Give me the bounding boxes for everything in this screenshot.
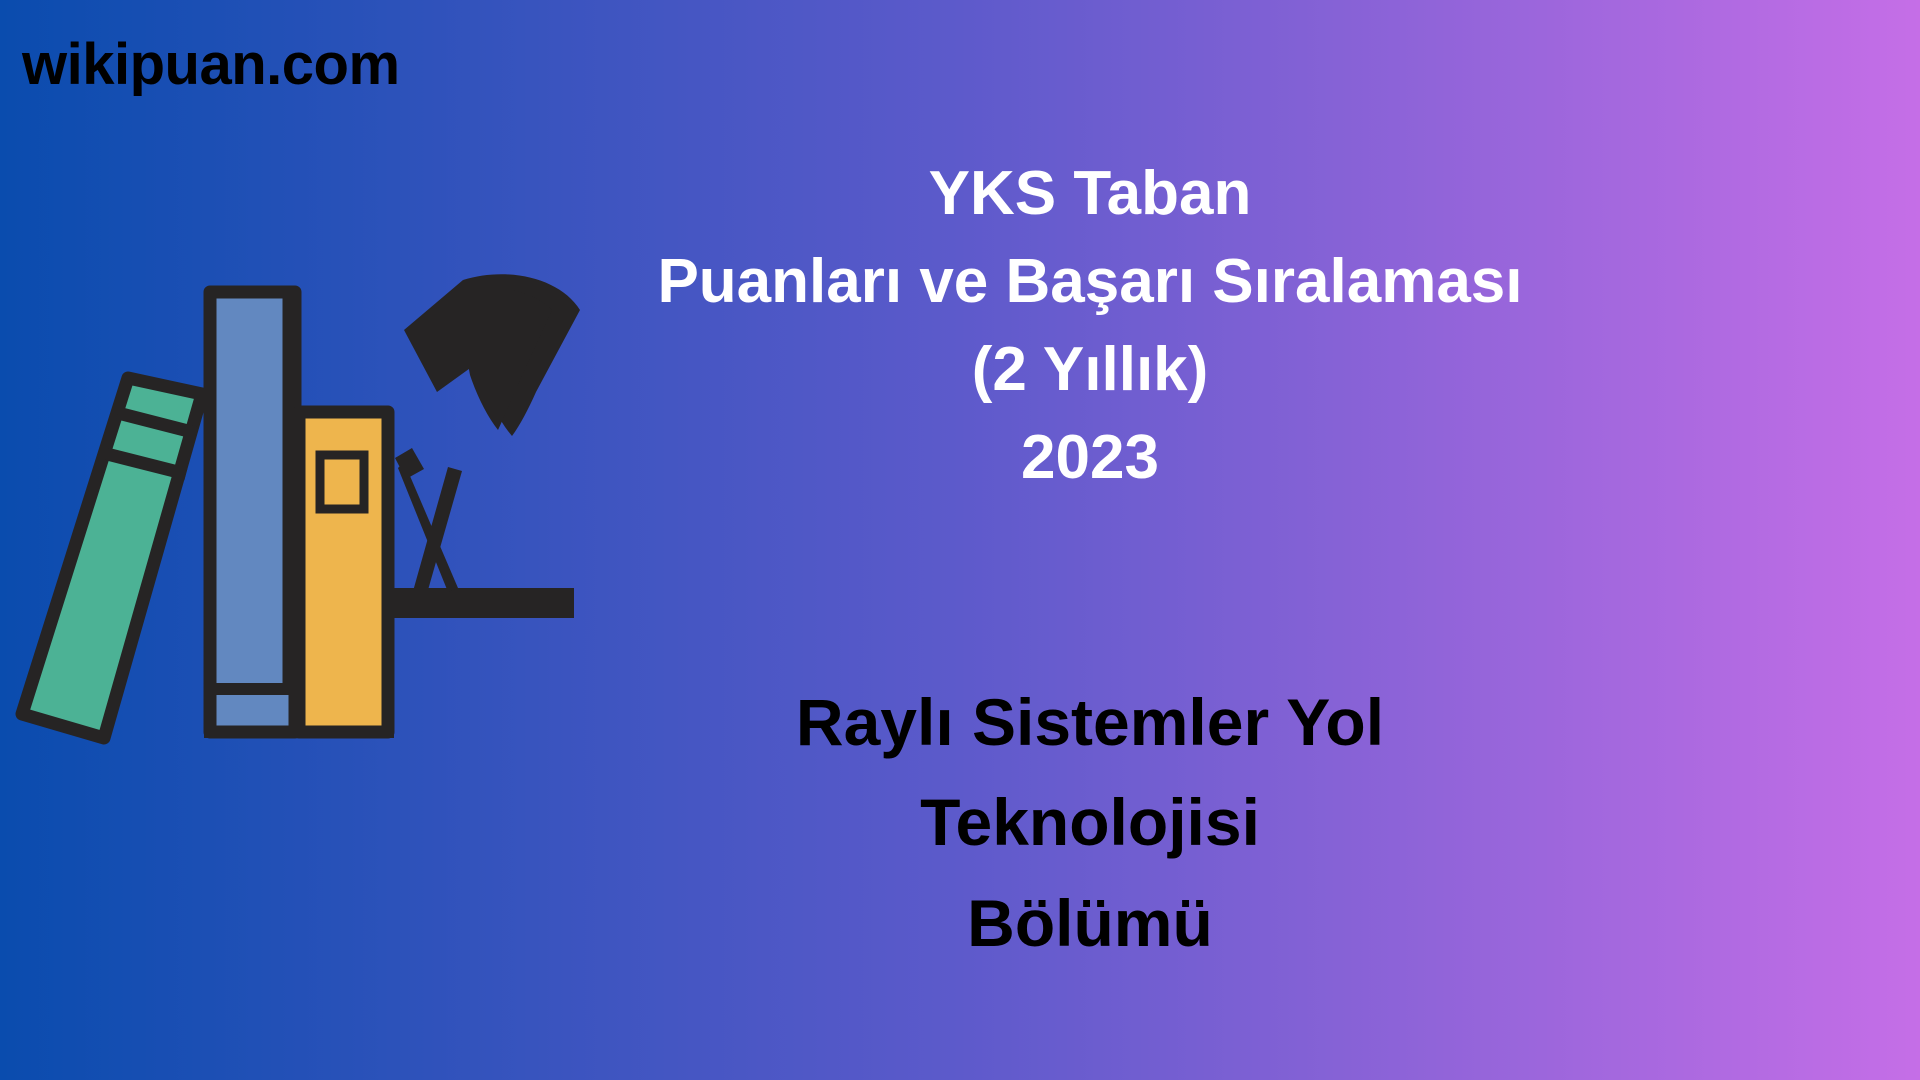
title-line-3: (2 Yıllık) (580, 326, 1600, 414)
department-line-3: Bölümü (580, 873, 1600, 973)
books-and-desk-lamp-illustration (0, 270, 600, 760)
title-line-1: YKS Taban (580, 150, 1600, 238)
green-book (22, 378, 202, 738)
yellow-book (299, 412, 388, 732)
banner-image: wikipuan.com (0, 0, 1920, 1080)
page-title: YKS Taban Puanları ve Başarı Sıralaması … (580, 150, 1600, 502)
department-title: Raylı Sistemler Yol Teknolojisi Bölümü (580, 672, 1600, 973)
title-line-2: Puanları ve Başarı Sıralaması (580, 238, 1600, 326)
desk-lamp-icon (392, 274, 580, 618)
department-line-1: Raylı Sistemler Yol (580, 672, 1600, 772)
site-watermark: wikipuan.com (22, 36, 400, 94)
department-line-2: Teknolojisi (580, 772, 1600, 872)
text-column: YKS Taban Puanları ve Başarı Sıralaması … (580, 0, 1920, 1080)
blue-book (210, 292, 295, 732)
title-line-4: 2023 (580, 414, 1600, 502)
